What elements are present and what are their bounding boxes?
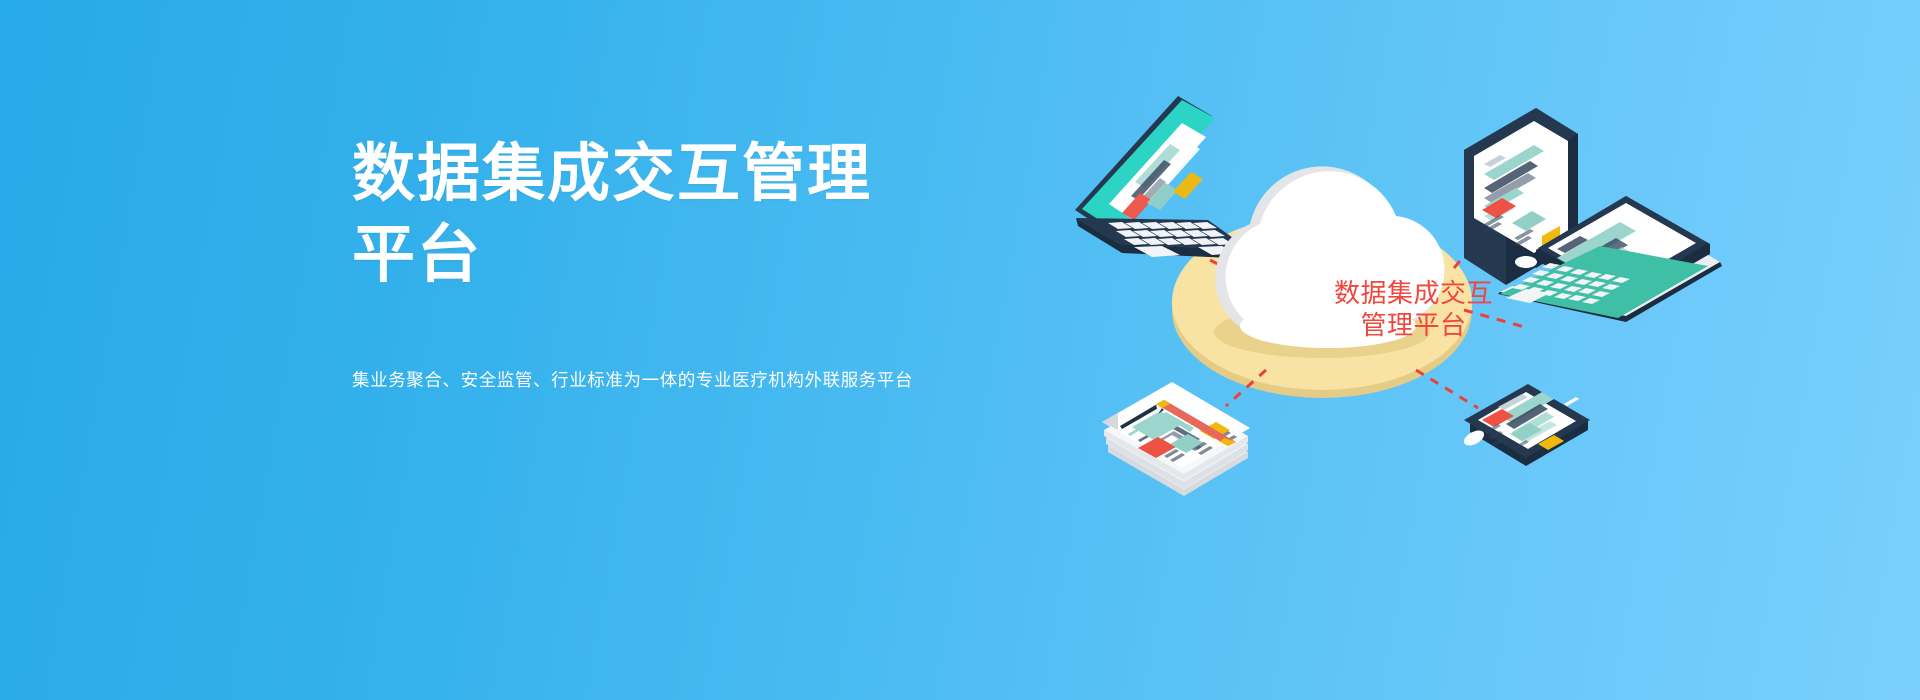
page-title: 数据集成交互管理 平台 [352, 134, 1112, 295]
hero-banner: 数据集成交互管理 平台 集业务聚合、安全监管、行业标准为一体的专业医疗机构外联服… [0, 0, 1920, 700]
cloud-devices-illustration [1060, 70, 1860, 590]
hero-text-block: 数据集成交互管理 平台 集业务聚合、安全监管、行业标准为一体的专业医疗机构外联服… [352, 134, 1112, 394]
page-subtitle: 集业务聚合、安全监管、行业标准为一体的专业医疗机构外联服务平台 [352, 367, 1112, 393]
connector-phone [1416, 370, 1478, 408]
connector-laptop-right [1464, 310, 1528, 328]
smartphone-device [1461, 384, 1590, 466]
laptop-left [1075, 96, 1252, 259]
document-stack [1102, 382, 1250, 496]
cloud-shape [1214, 166, 1444, 358]
tablet-home-button [1515, 256, 1537, 268]
phone-speaker [1564, 397, 1579, 406]
